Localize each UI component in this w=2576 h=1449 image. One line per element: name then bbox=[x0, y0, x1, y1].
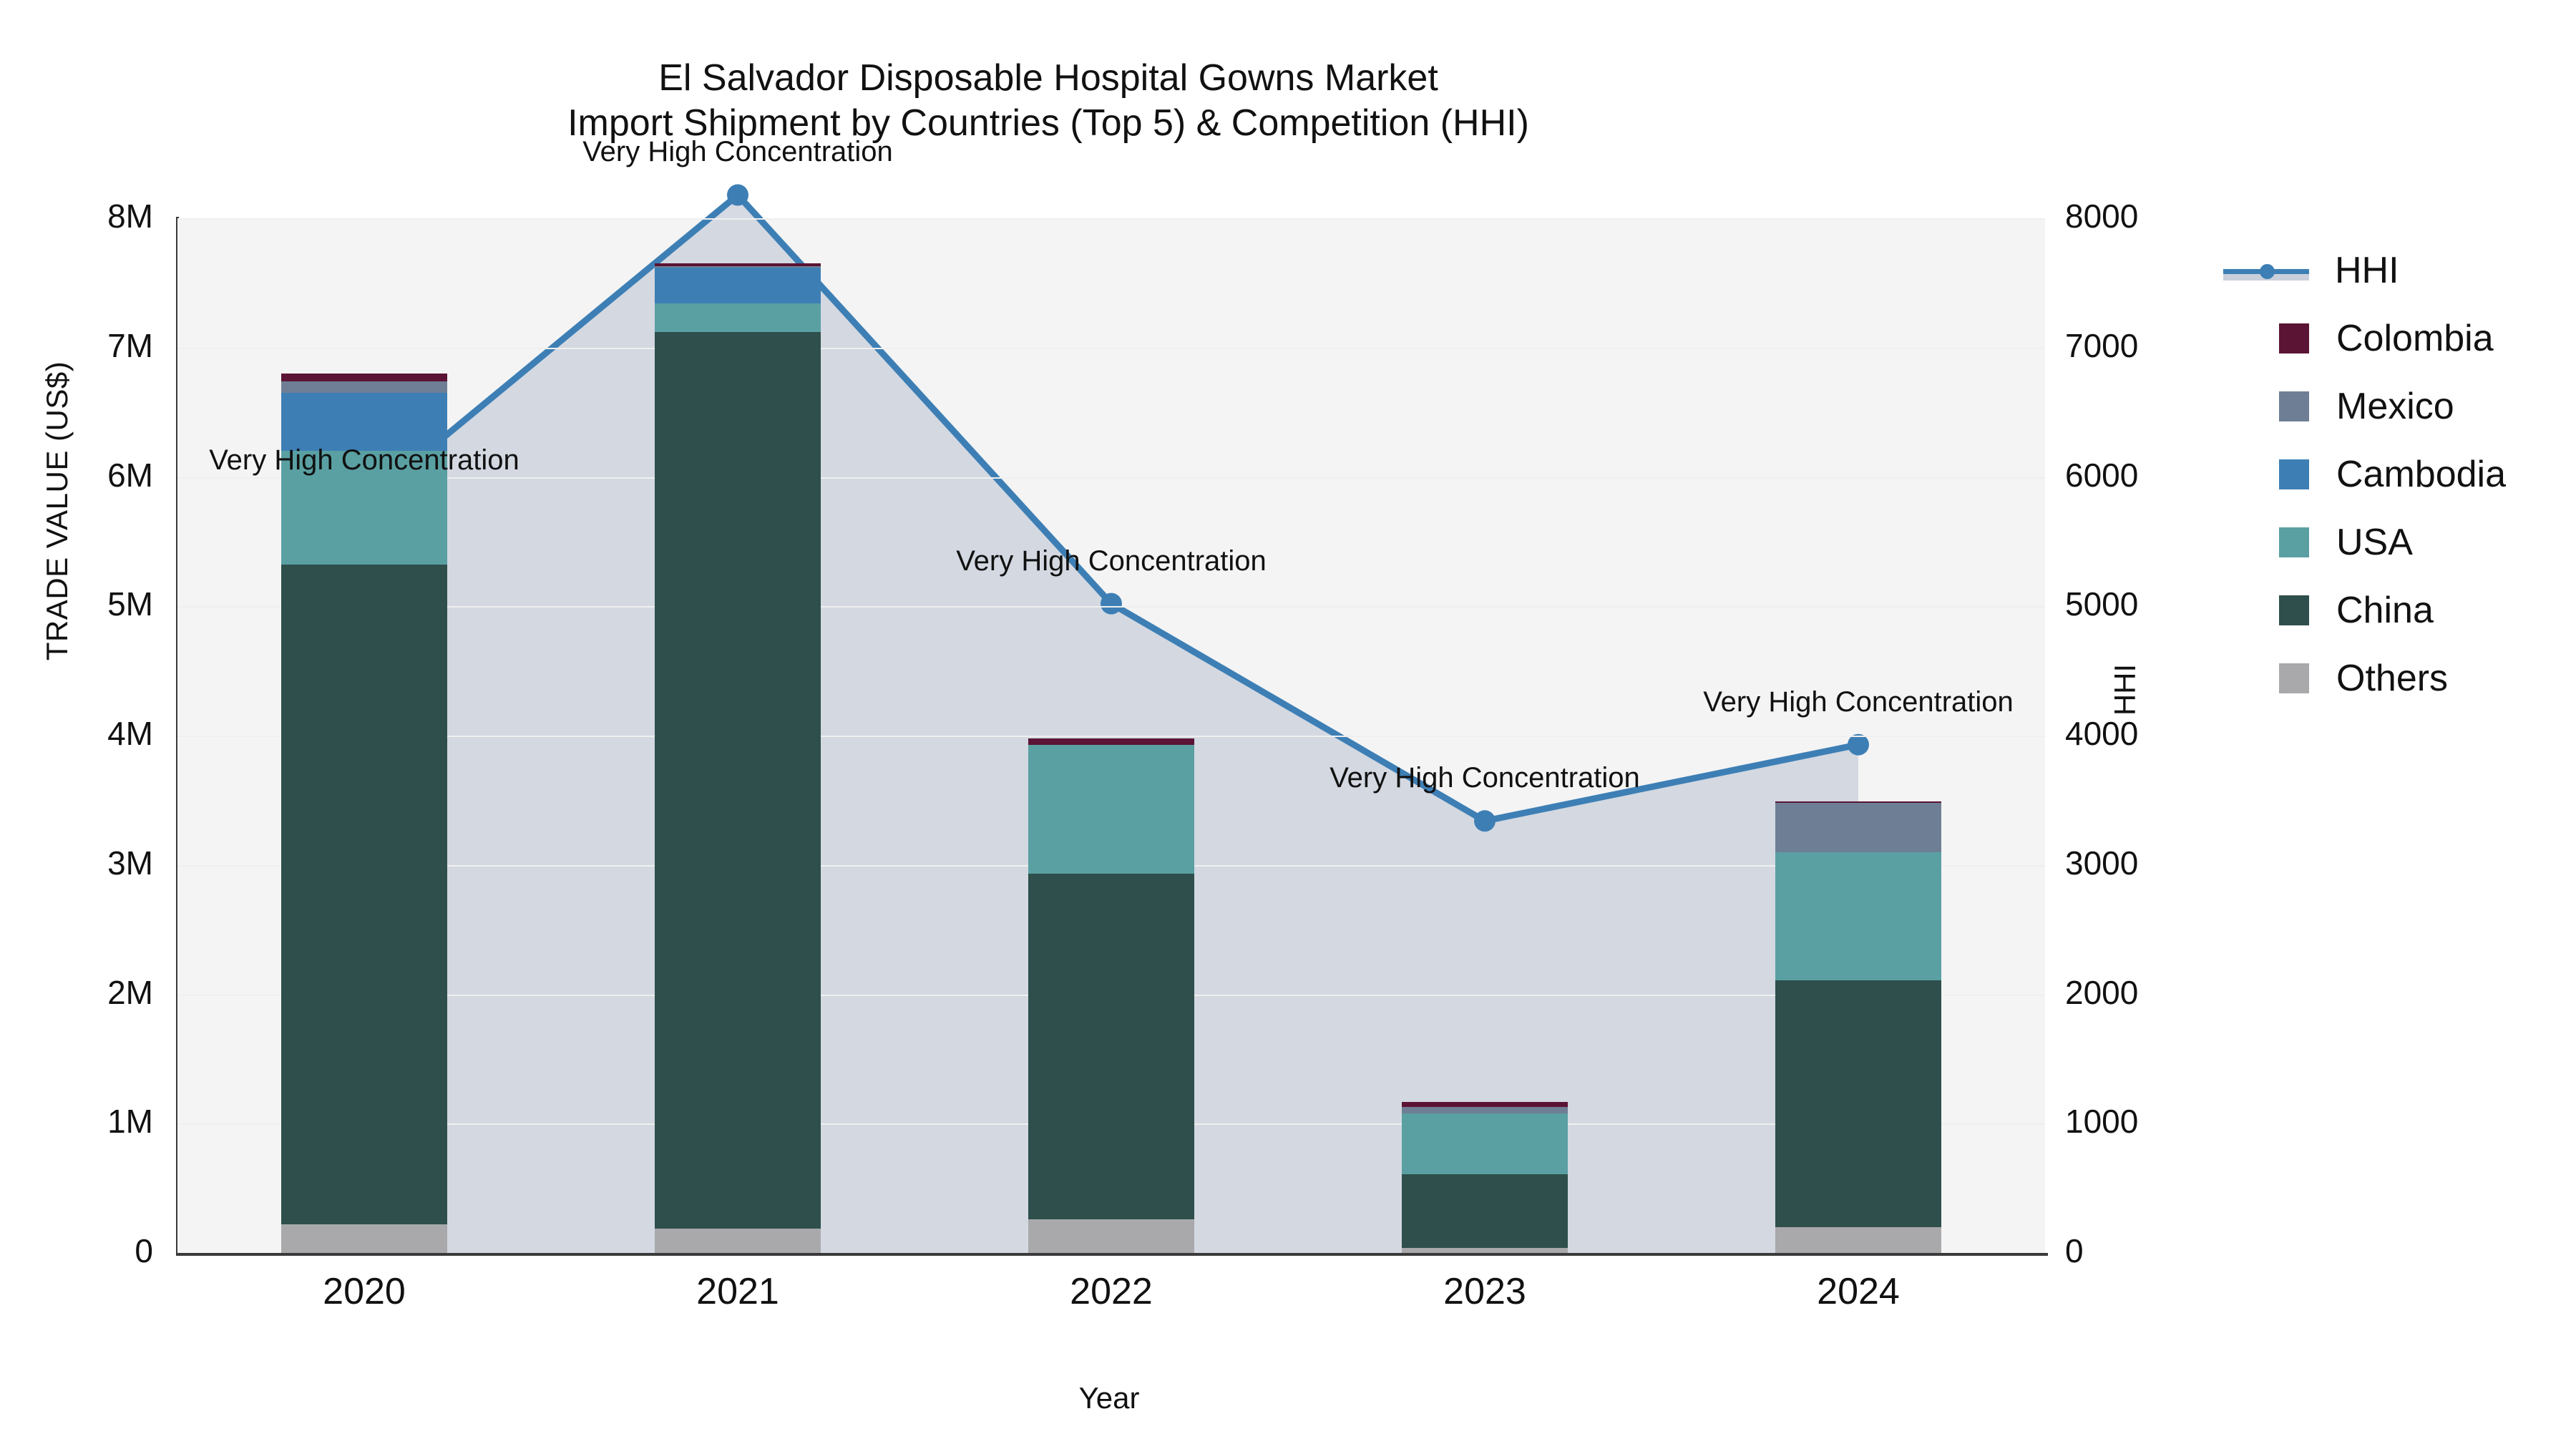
x-tick-2022: 2022 bbox=[1004, 1270, 1219, 1313]
y-tick-left-8M: 8M bbox=[0, 197, 153, 235]
y-tick-right-2000: 2000 bbox=[2065, 973, 2138, 1012]
bar-stack-2021[interactable] bbox=[655, 263, 821, 1253]
bar-segment-mexico-2024[interactable] bbox=[1775, 803, 1941, 852]
gridline-secondary bbox=[177, 606, 2045, 608]
annotation-2024: Very High Concentration bbox=[1703, 686, 2014, 718]
y-tick-left-0: 0 bbox=[0, 1231, 153, 1270]
x-tick-2024: 2024 bbox=[1751, 1270, 1966, 1313]
bar-segment-others-2023[interactable] bbox=[1402, 1248, 1568, 1253]
y-tick-left-7M: 7M bbox=[0, 326, 153, 365]
y-tick-right-1000: 1000 bbox=[2065, 1102, 2138, 1141]
legend-swatch-icon bbox=[2279, 323, 2309, 353]
legend-label: HHI bbox=[2335, 252, 2399, 289]
bar-segment-others-2021[interactable] bbox=[655, 1229, 821, 1253]
legend-item-colombia[interactable]: Colombia bbox=[2279, 304, 2576, 372]
bar-segment-mexico-2023[interactable] bbox=[1402, 1107, 1568, 1113]
y-tick-right-5000: 5000 bbox=[2065, 585, 2138, 623]
bar-segment-usa-2023[interactable] bbox=[1402, 1113, 1568, 1174]
bar-stack-2022[interactable] bbox=[1028, 738, 1194, 1253]
legend-item-others[interactable]: Others bbox=[2279, 644, 2576, 712]
gridline-secondary bbox=[177, 477, 2045, 479]
annotation-2021: Very High Concentration bbox=[582, 136, 893, 168]
y-tick-left-5M: 5M bbox=[0, 585, 153, 623]
legend-item-usa[interactable]: USA bbox=[2279, 508, 2576, 576]
bar-segment-china-2022[interactable] bbox=[1028, 874, 1194, 1219]
gridline-secondary bbox=[177, 218, 2045, 220]
plot-area bbox=[177, 218, 2045, 1253]
y-tick-right-4000: 4000 bbox=[2065, 714, 2138, 753]
bar-segment-mexico-2020[interactable] bbox=[281, 381, 447, 393]
legend-swatch-icon bbox=[2279, 663, 2309, 693]
hhi-marker-2021[interactable] bbox=[727, 185, 748, 206]
x-axis-spine bbox=[176, 1253, 2048, 1256]
legend-label: USA bbox=[2336, 524, 2413, 561]
legend-swatch-icon bbox=[2279, 459, 2309, 489]
bar-segment-others-2020[interactable] bbox=[281, 1224, 447, 1253]
y-tick-left-3M: 3M bbox=[0, 844, 153, 882]
legend-swatch-icon bbox=[2279, 391, 2309, 421]
y-tick-right-0: 0 bbox=[2065, 1231, 2084, 1270]
hhi-marker-2023[interactable] bbox=[1474, 810, 1496, 831]
legend-label: Others bbox=[2336, 660, 2448, 697]
y-tick-right-3000: 3000 bbox=[2065, 844, 2138, 882]
annotation-2020: Very High Concentration bbox=[209, 444, 519, 477]
bar-segment-cambodia-2021[interactable] bbox=[655, 268, 821, 304]
legend-label: China bbox=[2336, 592, 2434, 629]
legend-swatch-icon bbox=[2279, 527, 2309, 557]
bar-segment-others-2024[interactable] bbox=[1775, 1227, 1941, 1253]
legend-label: Mexico bbox=[2336, 388, 2454, 425]
legend-item-china[interactable]: China bbox=[2279, 576, 2576, 644]
bar-segment-china-2020[interactable] bbox=[281, 565, 447, 1224]
x-tick-2020: 2020 bbox=[257, 1270, 472, 1313]
bar-segment-china-2021[interactable] bbox=[655, 332, 821, 1229]
y-tick-left-4M: 4M bbox=[0, 714, 153, 753]
chart-legend: HHIColombiaMexicoCambodiaUSAChinaOthers bbox=[2279, 236, 2576, 712]
y-tick-right-6000: 6000 bbox=[2065, 456, 2138, 494]
legend-line-marker-icon bbox=[2223, 255, 2309, 286]
legend-item-mexico[interactable]: Mexico bbox=[2279, 372, 2576, 440]
legend-label: Colombia bbox=[2336, 320, 2494, 357]
bar-segment-colombia-2024[interactable] bbox=[1775, 801, 1941, 803]
legend-item-cambodia[interactable]: Cambodia bbox=[2279, 440, 2576, 508]
bar-segment-colombia-2020[interactable] bbox=[281, 374, 447, 381]
bar-segment-usa-2021[interactable] bbox=[655, 303, 821, 332]
bar-segment-colombia-2021[interactable] bbox=[655, 263, 821, 266]
x-axis-label: Year bbox=[0, 1381, 2218, 1415]
bar-stack-2023[interactable] bbox=[1402, 1102, 1568, 1253]
annotation-2022: Very High Concentration bbox=[956, 545, 1267, 577]
gridline-secondary bbox=[177, 348, 2045, 349]
bar-segment-usa-2024[interactable] bbox=[1775, 852, 1941, 980]
bar-segment-cambodia-2020[interactable] bbox=[281, 393, 447, 451]
x-tick-2021: 2021 bbox=[630, 1270, 845, 1313]
bar-segment-colombia-2022[interactable] bbox=[1028, 738, 1194, 745]
y-tick-left-2M: 2M bbox=[0, 973, 153, 1012]
legend-item-hhi[interactable]: HHI bbox=[2279, 236, 2576, 304]
gridline-secondary bbox=[177, 736, 2045, 737]
y-tick-right-7000: 7000 bbox=[2065, 326, 2138, 365]
bar-segment-others-2022[interactable] bbox=[1028, 1219, 1194, 1253]
y-tick-left-1M: 1M bbox=[0, 1102, 153, 1141]
bar-segment-usa-2022[interactable] bbox=[1028, 745, 1194, 874]
y-tick-right-8000: 8000 bbox=[2065, 197, 2138, 235]
hhi-marker-2022[interactable] bbox=[1101, 593, 1122, 615]
bar-segment-china-2024[interactable] bbox=[1775, 980, 1941, 1227]
bar-stack-2024[interactable] bbox=[1775, 801, 1941, 1253]
legend-swatch-icon bbox=[2279, 595, 2309, 625]
legend-label: Cambodia bbox=[2336, 456, 2506, 493]
page-title: El Salvador Disposable Hospital Gowns Ma… bbox=[0, 56, 2097, 147]
bar-segment-colombia-2023[interactable] bbox=[1402, 1102, 1568, 1107]
hhi-marker-2024[interactable] bbox=[1848, 734, 1869, 756]
bar-segment-mexico-2021[interactable] bbox=[655, 266, 821, 268]
bar-segment-china-2023[interactable] bbox=[1402, 1174, 1568, 1248]
annotation-2023: Very High Concentration bbox=[1330, 762, 1640, 794]
bar-stack-2020[interactable] bbox=[281, 374, 447, 1253]
x-tick-2023: 2023 bbox=[1377, 1270, 1592, 1313]
y-tick-left-6M: 6M bbox=[0, 456, 153, 494]
